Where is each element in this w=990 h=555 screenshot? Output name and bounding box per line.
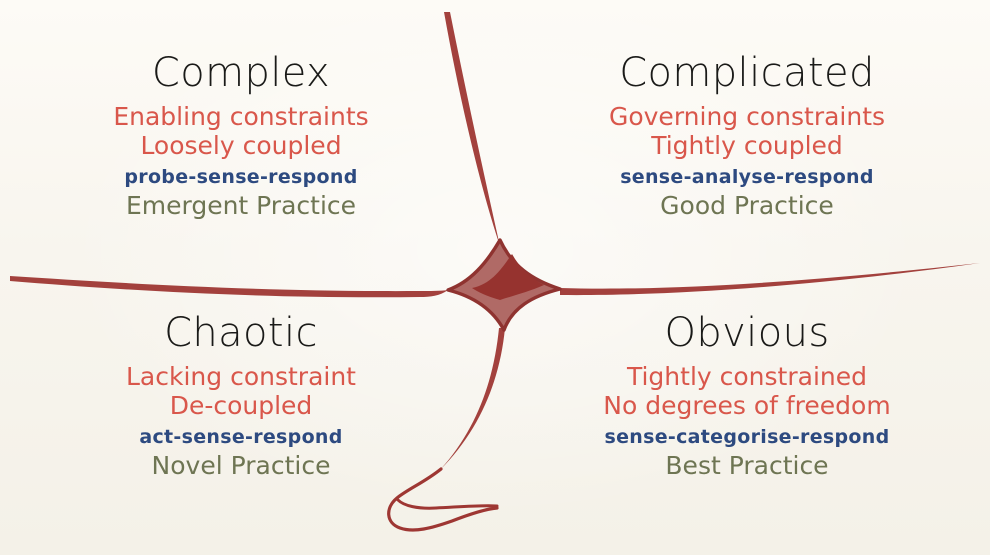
bottom-curl-tail [398,500,497,508]
divider-line-right [560,263,980,295]
quadrant-complex-title: Complex [6,52,476,95]
quadrant-obvious-title: Obvious [512,312,982,355]
quadrant-complicated: Complicated Governing constraints Tightl… [512,52,982,221]
quadrant-chaotic-constraint-2: De-coupled [6,391,476,420]
quadrant-complicated-title: Complicated [512,52,982,95]
quadrant-chaotic-practice: Novel Practice [6,451,476,481]
quadrant-complex-practice: Emergent Practice [6,191,476,221]
divider-line-left [10,276,448,297]
quadrant-complicated-practice: Good Practice [512,191,982,221]
quadrant-complicated-process: sense-analyse-respond [512,165,982,190]
quadrant-chaotic: Chaotic Lacking constraint De-coupled ac… [6,312,476,481]
quadrant-complex: Complex Enabling constraints Loosely cou… [6,52,476,221]
quadrant-chaotic-process: act-sense-respond [6,425,476,450]
quadrant-chaotic-title: Chaotic [6,312,476,355]
quadrant-complicated-constraint-2: Tightly coupled [512,131,982,160]
quadrant-complex-constraint-1: Enabling constraints [6,102,476,131]
quadrant-complex-constraint-2: Loosely coupled [6,131,476,160]
cynefin-diagram-canvas: Complex Enabling constraints Loosely cou… [0,0,990,555]
quadrant-obvious-practice: Best Practice [512,451,982,481]
quadrant-obvious-process: sense-categorise-respond [512,425,982,450]
quadrant-obvious: Obvious Tightly constrained No degrees o… [512,312,982,481]
quadrant-complicated-constraint-1: Governing constraints [512,102,982,131]
quadrant-chaotic-constraint-1: Lacking constraint [6,362,476,391]
quadrant-obvious-constraint-2: No degrees of freedom [512,391,982,420]
quadrant-complex-process: probe-sense-respond [6,165,476,190]
quadrant-obvious-constraint-1: Tightly constrained [512,362,982,391]
